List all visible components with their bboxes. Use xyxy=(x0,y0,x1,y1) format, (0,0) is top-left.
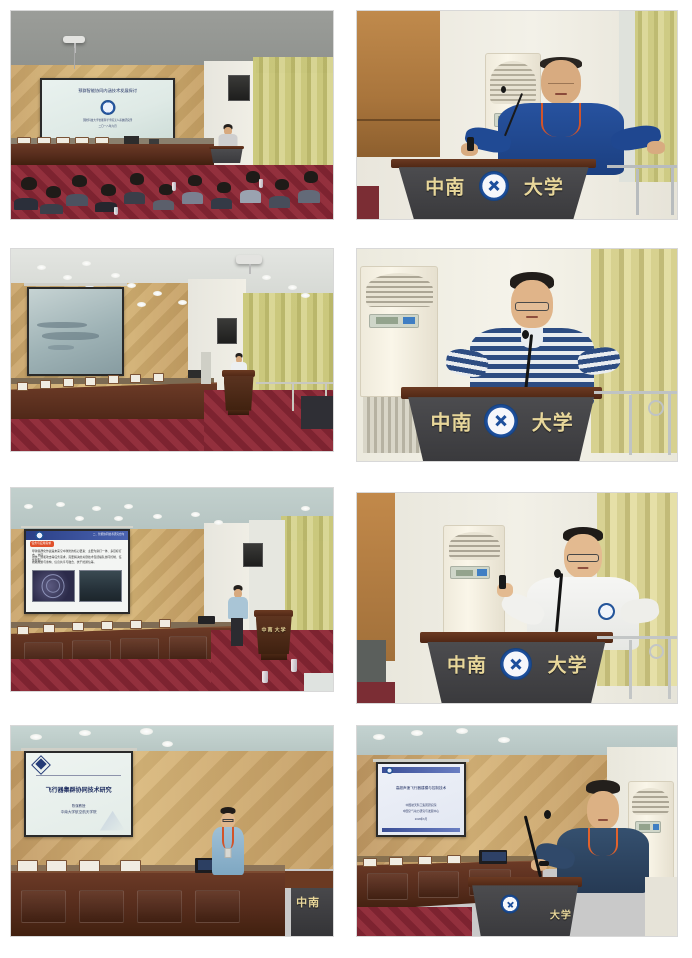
lectern-logo-icon xyxy=(484,404,518,438)
badge xyxy=(224,848,231,858)
lanyard xyxy=(541,103,581,137)
projection-screen: 二、智能协同技术研究方向 任务与应用需求 导弹集群化作战是未来空中攻防的核心要素… xyxy=(24,529,130,614)
lectern-logo-icon xyxy=(500,648,532,680)
photo-8-scene: 高超声速飞行器建模与控制技术 中国航天科工集团研究院 中国空气动力研究与发展中心… xyxy=(357,726,677,936)
lectern-text-left: 中南 xyxy=(447,651,487,678)
photo-1-scene: 预群智能协同内涵技术发展探讨 国防科技大学智能科学学院无人系统研究所 二〇一八年… xyxy=(11,11,333,219)
photo-6-scene: 中南 大学 xyxy=(357,493,677,703)
water-bottle xyxy=(259,179,263,188)
photo-6-lectern[interactable]: 中南 大学 xyxy=(427,632,605,703)
slide-8-date: 2018年6月 xyxy=(382,817,461,821)
lectern-text-right: 大学 xyxy=(548,651,588,678)
photo-tile-8[interactable]: 高超声速飞行器建模与控制技术 中国航天科工集团研究院 中国空气动力研究与发展中心… xyxy=(356,725,678,937)
projection-screen: 预群智能协同内涵技术发展探讨 国防科技大学智能科学学院无人系统研究所 二〇一八年… xyxy=(40,78,175,140)
slide-5-header-right: 二、智能协同技术研究方向 xyxy=(93,533,124,536)
slide-8-line3: 中国空气动力研究与发展中心 xyxy=(382,809,461,813)
lectern-text-right: 大学 xyxy=(524,173,564,200)
photo-4-lectern[interactable]: 中南 大学 xyxy=(408,387,594,461)
photo-3-lectern xyxy=(224,370,254,410)
presenter-remote xyxy=(467,137,474,151)
presenter-remote xyxy=(499,575,506,589)
slide-5-image-swarm xyxy=(32,570,75,603)
water-bottle xyxy=(172,182,176,191)
lectern-logo-icon xyxy=(501,895,520,914)
slide-5-body-line-3: 航路规划与重构、信息共享与融合、抗干扰通信等。 xyxy=(32,561,124,564)
slide-7-author: 陈谋教授 xyxy=(30,803,127,808)
slide-5-image-terrain xyxy=(79,570,122,603)
wall-speaker-icon xyxy=(228,75,250,101)
presenter-remote xyxy=(539,861,549,866)
lectern-text-right: 大学 xyxy=(532,406,574,435)
slide-1: 预群智能协同内涵技术发展探讨 国防科技大学智能科学学院无人系统研究所 二〇一八年… xyxy=(47,82,168,136)
lectern-logo-icon xyxy=(479,171,509,201)
ceiling-projector-icon xyxy=(63,36,85,43)
photo-2-lectern[interactable]: 中南 大学 xyxy=(399,159,589,219)
photo-tile-6[interactable]: 中南 大学 xyxy=(356,492,678,704)
lectern-text-right: 大学 xyxy=(550,906,572,921)
wall-speaker-icon xyxy=(243,543,263,567)
air-conditioner xyxy=(360,266,438,397)
handrail xyxy=(607,165,677,168)
water-bottle xyxy=(291,659,297,672)
lectern-text-left: 中南 xyxy=(431,406,473,435)
lectern-text-left: 中南 xyxy=(425,173,465,200)
photo-tile-4[interactable]: 中南 大学 xyxy=(356,248,678,462)
slide-1-emblem-icon xyxy=(100,100,115,115)
lectern-text-left: 中南 xyxy=(261,627,273,634)
dais xyxy=(11,142,214,165)
photo-grid-page: 预群智能协同内涵技术发展探讨 国防科技大学智能科学学院无人系统研究所 二〇一八年… xyxy=(0,0,692,958)
ceiling-projector-icon xyxy=(236,255,262,264)
photo-7-speaker xyxy=(211,810,245,873)
water-bottle xyxy=(114,207,118,215)
lanyard xyxy=(222,827,234,849)
photo-3-scene xyxy=(11,249,333,451)
projection-screen: 高超声速飞行器建模与控制技术 中国航天科工集团研究院 中国空气动力研究与发展中心… xyxy=(376,762,466,838)
photo-tile-1[interactable]: 预群智能协同内涵技术发展探讨 国防科技大学智能科学学院无人系统研究所 二〇一八年… xyxy=(10,10,334,220)
slide-5-section-label: 任务与应用需求 xyxy=(31,542,51,545)
glasses-icon xyxy=(222,819,233,822)
lectern-text-right: 大学 xyxy=(275,627,287,634)
air-conditioner xyxy=(443,525,505,634)
slide-8-title: 高超声速飞行器建模与控制技术 xyxy=(382,786,461,791)
slide-7-title: 飞行器集群协同技术研究 xyxy=(30,785,127,794)
photo-tile-2[interactable]: 中南 大学 xyxy=(356,10,678,220)
wall-speaker-icon xyxy=(217,318,237,344)
water-bottle xyxy=(262,671,268,683)
slide-8-line2: 中国航天科工集团研究院 xyxy=(382,803,461,807)
slide-1-date: 二〇一八年六月 xyxy=(47,125,168,128)
slide-1-subtitle: 国防科技大学智能科学学院无人系统研究所 xyxy=(47,119,168,122)
photo-5-lectern: 中南 大学 xyxy=(256,610,292,655)
handrail xyxy=(597,636,677,639)
photo-8-lectern[interactable]: 大学 xyxy=(472,877,578,936)
lectern-corner-text: 中南 xyxy=(296,894,320,910)
slide-1-title: 预群智能协同内涵技术发展探讨 xyxy=(47,88,168,93)
photo-tile-3[interactable] xyxy=(10,248,334,452)
laptop xyxy=(198,616,215,624)
institute-crest-icon xyxy=(598,603,615,620)
photo-tile-5[interactable]: 二、智能协同技术研究方向 任务与应用需求 导弹集群化作战是未来空中攻防的核心要素… xyxy=(10,487,334,692)
photo-5-scene: 二、智能协同技术研究方向 任务与应用需求 导弹集群化作战是未来空中攻防的核心要素… xyxy=(11,488,333,691)
projection-screen xyxy=(27,287,124,376)
photo-6-speaker xyxy=(523,527,643,645)
photo-1-lectern xyxy=(211,146,243,163)
slide-8: 高超声速飞行器建模与控制技术 中国航天科工集团研究院 中国空气动力研究与发展中心… xyxy=(382,767,461,833)
photo-tile-7[interactable]: 飞行器集群协同技术研究 陈谋教授 中南大学航空航天学院 xyxy=(10,725,334,937)
photo-7-scene: 飞行器集群协同技术研究 陈谋教授 中南大学航空航天学院 xyxy=(11,726,333,936)
slide-7: 飞行器集群协同技术研究 陈谋教授 中南大学航空航天学院 xyxy=(30,756,127,832)
photo-4-scene: 中南 大学 xyxy=(357,249,677,461)
glasses-icon xyxy=(567,554,599,562)
glasses-icon xyxy=(515,302,549,311)
photo-2-scene: 中南 大学 xyxy=(357,11,677,219)
projection-screen: 飞行器集群协同技术研究 陈谋教授 中南大学航空航天学院 xyxy=(24,751,133,837)
handrail xyxy=(594,391,677,394)
lanyard xyxy=(588,828,618,856)
photo-5-speaker xyxy=(227,587,249,660)
